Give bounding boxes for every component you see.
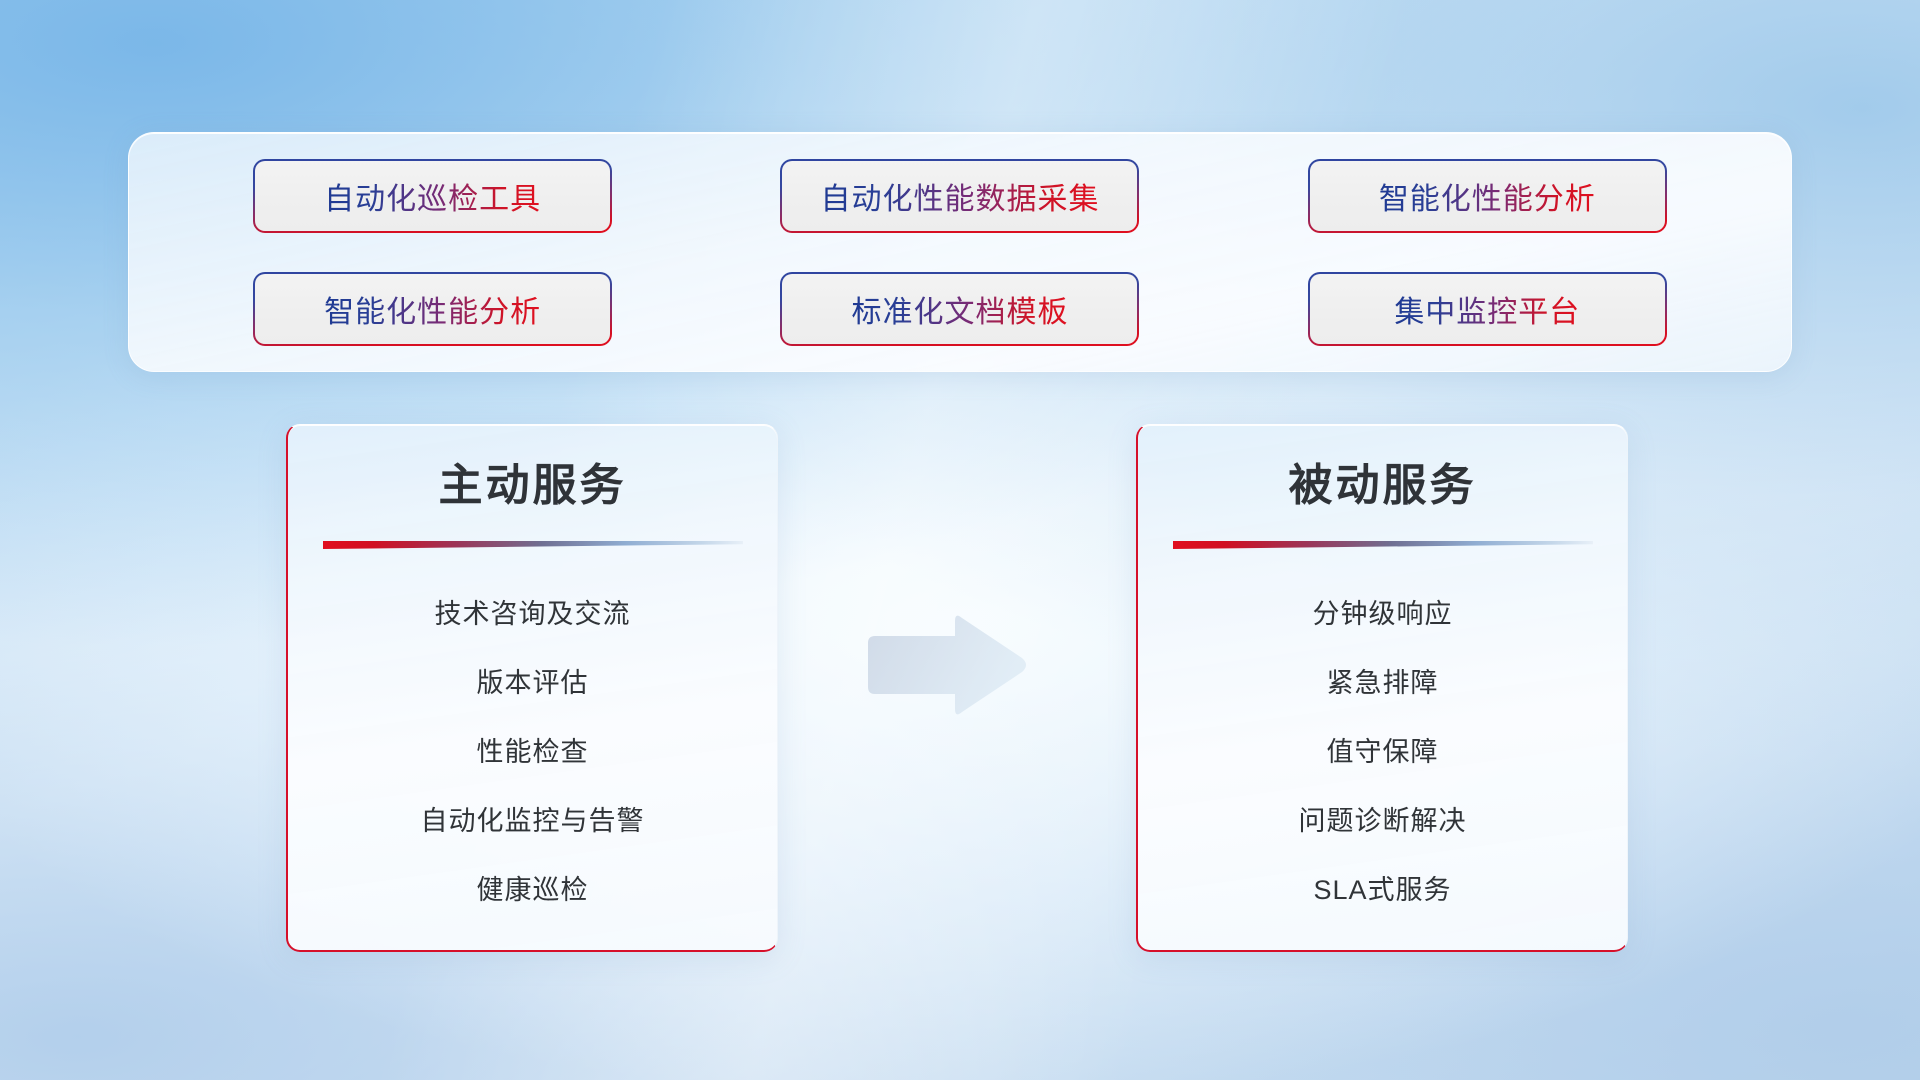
- capability-pill-3[interactable]: 智能化性能分析: [1310, 161, 1665, 231]
- capability-pill-4[interactable]: 智能化性能分析: [255, 274, 610, 344]
- capability-pill-label: 自动化巡检工具: [324, 174, 541, 218]
- service-item: SLA式服务: [1168, 856, 1597, 925]
- service-item: 紧急排障: [1168, 649, 1597, 718]
- capability-panel: 自动化巡检工具 自动化性能数据采集 智能化性能分析 智能化性能分析 标准化文档模…: [128, 132, 1792, 372]
- service-item: 技术咨询及交流: [318, 580, 747, 649]
- card-title: 主动服务: [439, 461, 627, 512]
- service-item-list: 分钟级响应 紧急排障 值守保障 问题诊断解决 SLA式服务: [1168, 580, 1597, 925]
- service-item-list: 技术咨询及交流 版本评估 性能检查 自动化监控与告警 健康巡检: [318, 580, 747, 925]
- capability-pill-label: 集中监控平台: [1394, 287, 1580, 331]
- capability-pill-2[interactable]: 自动化性能数据采集: [782, 161, 1137, 231]
- diagram-stage: 自动化巡检工具 自动化性能数据采集 智能化性能分析 智能化性能分析 标准化文档模…: [0, 0, 1920, 1080]
- service-card-proactive: 主动服务 技术咨询及交流 版本评估: [286, 424, 778, 952]
- service-item: 分钟级响应: [1168, 580, 1597, 649]
- service-item: 健康巡检: [318, 856, 747, 925]
- capability-pill-5[interactable]: 标准化文档模板: [782, 274, 1137, 344]
- capability-pill-1[interactable]: 自动化巡检工具: [255, 161, 610, 231]
- card-divider: [323, 538, 743, 554]
- card-divider: [1173, 538, 1593, 554]
- arrow-right-icon: [862, 600, 1032, 730]
- service-item: 自动化监控与告警: [318, 787, 747, 856]
- card-title: 被动服务: [1289, 461, 1477, 512]
- capability-pill-label: 标准化文档模板: [851, 287, 1068, 331]
- service-item: 性能检查: [318, 718, 747, 787]
- service-item: 问题诊断解决: [1168, 787, 1597, 856]
- capability-pill-label: 智能化性能分析: [1379, 174, 1596, 218]
- service-item: 值守保障: [1168, 718, 1597, 787]
- capability-pill-label: 智能化性能分析: [324, 287, 541, 331]
- capability-pill-6[interactable]: 集中监控平台: [1310, 274, 1665, 344]
- capability-pill-label: 自动化性能数据采集: [820, 174, 1099, 218]
- service-card-reactive: 被动服务 分钟级响应 紧急排障: [1136, 424, 1628, 952]
- service-item: 版本评估: [318, 649, 747, 718]
